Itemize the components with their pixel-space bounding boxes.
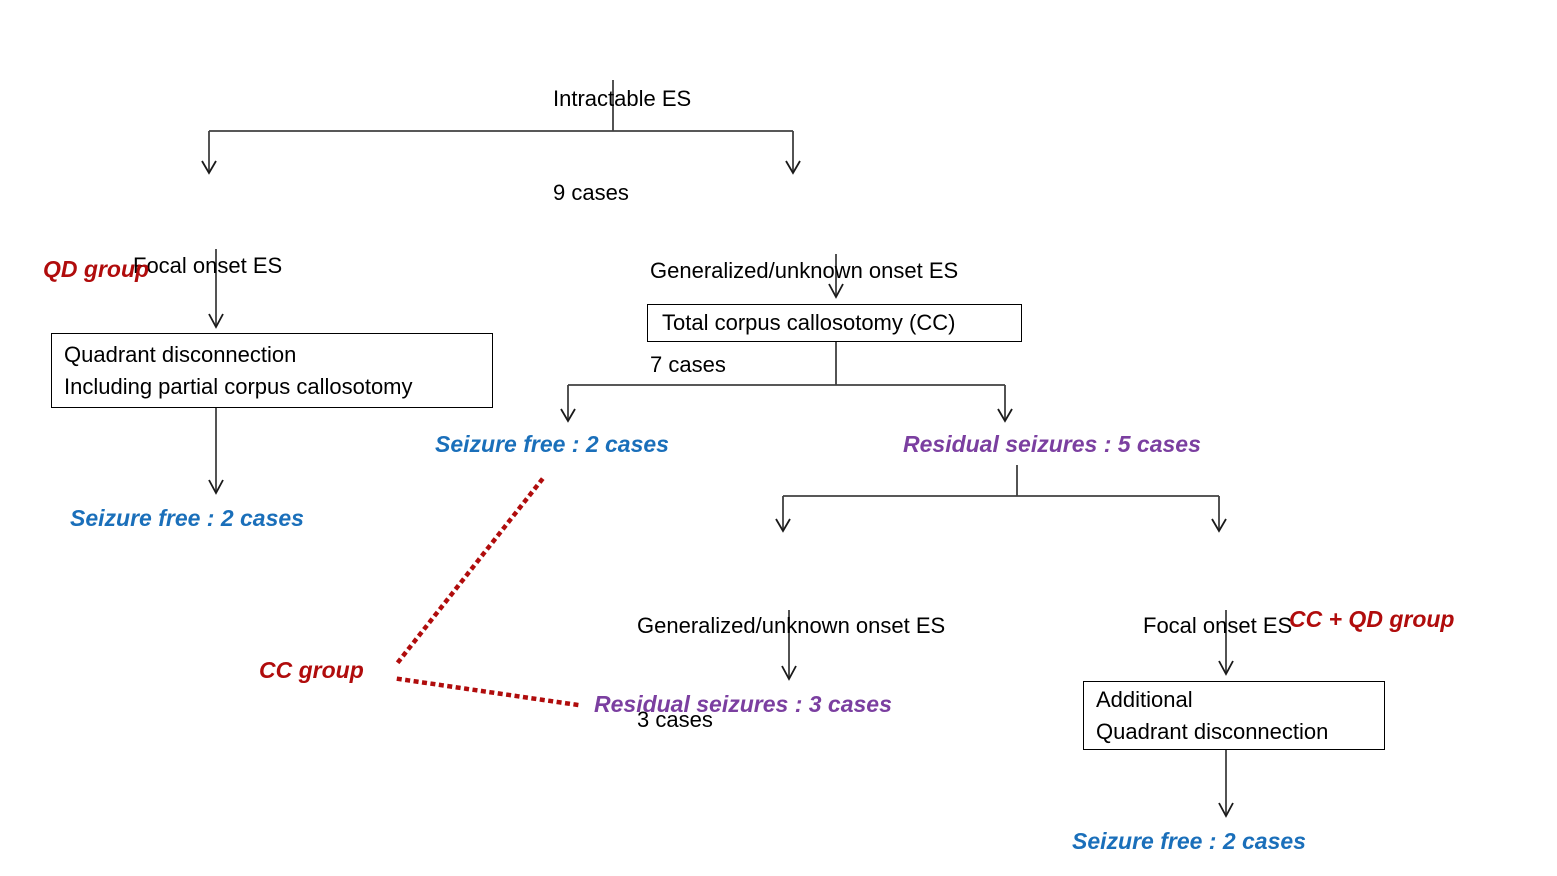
node-generalized-onset-lower: Generalized/unknown onset ES 3 cases [637,548,945,798]
dotted-leader-to-cc-free [399,477,544,661]
box-total-corpus-callosotomy: Total corpus callosotomy (CC) [647,304,1022,342]
arrowhead-generalized-top [786,161,800,173]
outcome-qd-seizure-free: Seizure free : 2 cases [70,505,304,532]
node-focal-onset-lower: Focal onset ES 2 cases [1143,548,1292,798]
outcome-ccqd-seizure-free: Seizure free : 2 cases [1072,828,1306,855]
arrowhead-qd-free [209,480,223,493]
box-additional-quadrant-disconnection-line2: Quadrant disconnection [1096,716,1384,747]
dotted-leader-to-residual3 [399,679,578,705]
box-quadrant-disconnection: Quadrant disconnection Including partial… [51,333,493,408]
node-root-line1: Intractable ES [553,83,691,114]
arrowhead-ccqd-free [1219,803,1233,816]
box-quadrant-disconnection-line1: Quadrant disconnection [64,339,492,370]
arrowhead-focal-left [202,161,216,173]
outcome-cc-residual-seizures: Residual seizures : 5 cases [903,431,1201,458]
box-additional-quadrant-disconnection: Additional Quadrant disconnection [1083,681,1385,750]
arrowhead-cc-residual [998,409,1012,421]
flowchart-canvas: Intractable ES 9 cases Focal onset ES 2 … [0,0,1557,876]
node-focal-onset-lower-line1: Focal onset ES [1143,610,1292,641]
label-cc-qd-group: CC + QD group [1289,606,1454,633]
node-focal-onset-left-line1: Focal onset ES [133,250,282,281]
box-quadrant-disconnection-line2: Including partial corpus callosotomy [64,371,492,402]
node-generalized-onset-top-line2: 7 cases [650,349,958,380]
box-additional-quadrant-disconnection-line1: Additional [1096,684,1384,715]
arrowhead-cc-free [561,409,575,421]
arrowhead-generalized-lower [776,519,790,531]
node-generalized-onset-lower-line1: Generalized/unknown onset ES [637,610,945,641]
arrowhead-focal-lower [1212,519,1226,531]
box-total-corpus-callosotomy-line1: Total corpus callosotomy (CC) [662,307,1021,338]
outcome-lower-residual-seizures: Residual seizures : 3 cases [594,691,892,718]
outcome-cc-seizure-free: Seizure free : 2 cases [435,431,669,458]
node-generalized-onset-top-line1: Generalized/unknown onset ES [650,255,958,286]
label-qd-group: QD group [43,256,149,283]
label-cc-group: CC group [259,657,364,684]
